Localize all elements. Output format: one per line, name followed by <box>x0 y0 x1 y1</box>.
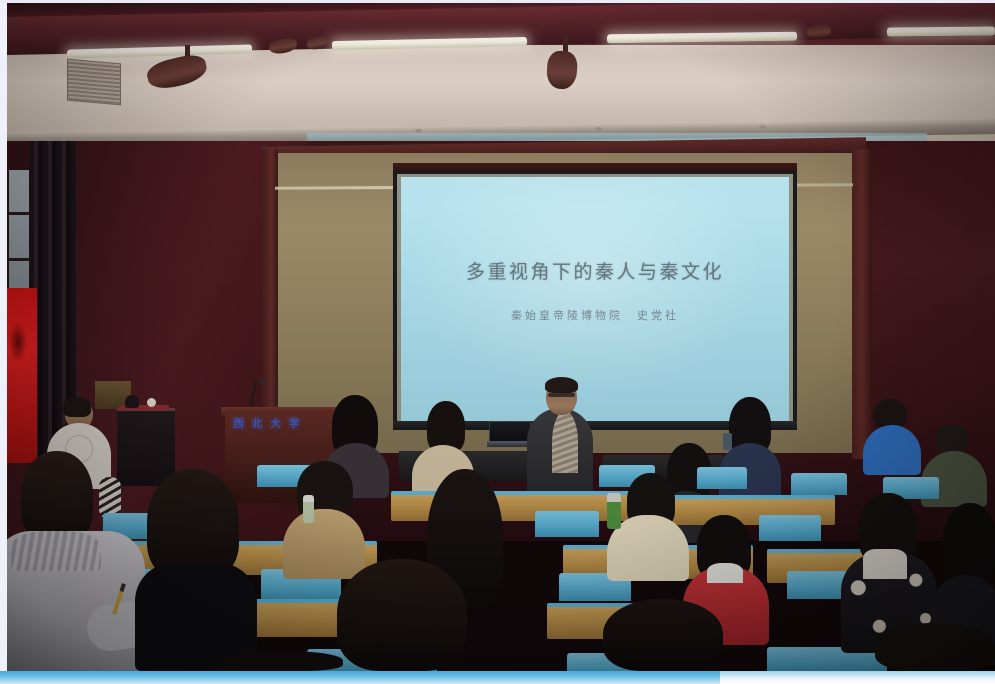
technician-hair <box>63 397 91 417</box>
audience-hair <box>603 599 723 671</box>
ceiling-downlight-3 <box>759 125 766 129</box>
seat-back[interactable] <box>535 511 599 537</box>
projector-screen: 多重视角下的秦人与秦文化 秦始皇帝陵博物院 史党社 <box>401 177 789 421</box>
seat-back[interactable] <box>759 515 821 541</box>
ceiling <box>7 3 995 153</box>
av-device-white <box>147 398 156 407</box>
green-thermos[interactable] <box>607 493 621 529</box>
hoodie-hood <box>11 531 101 571</box>
seat-back[interactable] <box>697 467 747 489</box>
seat-back[interactable] <box>791 473 847 495</box>
ceiling-fan-2 <box>546 50 579 90</box>
water-bottle[interactable] <box>303 495 314 523</box>
audience-torso <box>863 425 921 475</box>
microphone-icon <box>259 379 266 384</box>
frame-left-border <box>0 0 7 684</box>
screenshot-canvas: 多重视角下的秦人与秦文化 秦始皇帝陵博物院 史党社 西 北 大 学 <box>0 0 995 684</box>
av-equipment-cart <box>117 408 175 486</box>
audience-hair <box>875 623 995 671</box>
banner-emblem <box>9 321 27 363</box>
fluorescent-light-4 <box>887 26 995 36</box>
mobile-phone[interactable] <box>723 433 732 450</box>
speaker-glasses <box>548 393 575 397</box>
slide-title: 多重视角下的秦人与秦文化 <box>401 257 789 284</box>
frame-bottom-bar-light <box>720 671 995 684</box>
panel-frame-right <box>852 149 872 459</box>
ceiling-downlight-1 <box>415 129 422 133</box>
frame-top-border <box>0 0 995 3</box>
red-banner <box>7 288 37 463</box>
audience-hair <box>21 451 93 541</box>
audience-collar <box>707 563 743 583</box>
air-vent-grille <box>67 59 121 106</box>
lecture-hall-photo: 多重视角下的秦人与秦文化 秦始皇帝陵博物院 史党社 西 北 大 学 <box>7 3 995 671</box>
laptop-keyboard[interactable] <box>487 441 531 447</box>
ceiling-fan-1 <box>145 51 210 93</box>
slide-subtitle: 秦始皇帝陵博物院 史党社 <box>401 307 789 323</box>
podium-sign-label: 西 北 大 学 <box>233 415 302 431</box>
av-device-dark <box>125 395 139 408</box>
ceiling-downlight-2 <box>595 127 602 131</box>
projector-glow <box>401 177 789 421</box>
audience-hair <box>223 651 343 671</box>
audience-hair <box>943 503 995 583</box>
audience-torso <box>283 509 365 579</box>
audience-hair <box>337 559 467 671</box>
speaker-shirt <box>552 411 578 473</box>
speaker-hair <box>545 377 578 393</box>
